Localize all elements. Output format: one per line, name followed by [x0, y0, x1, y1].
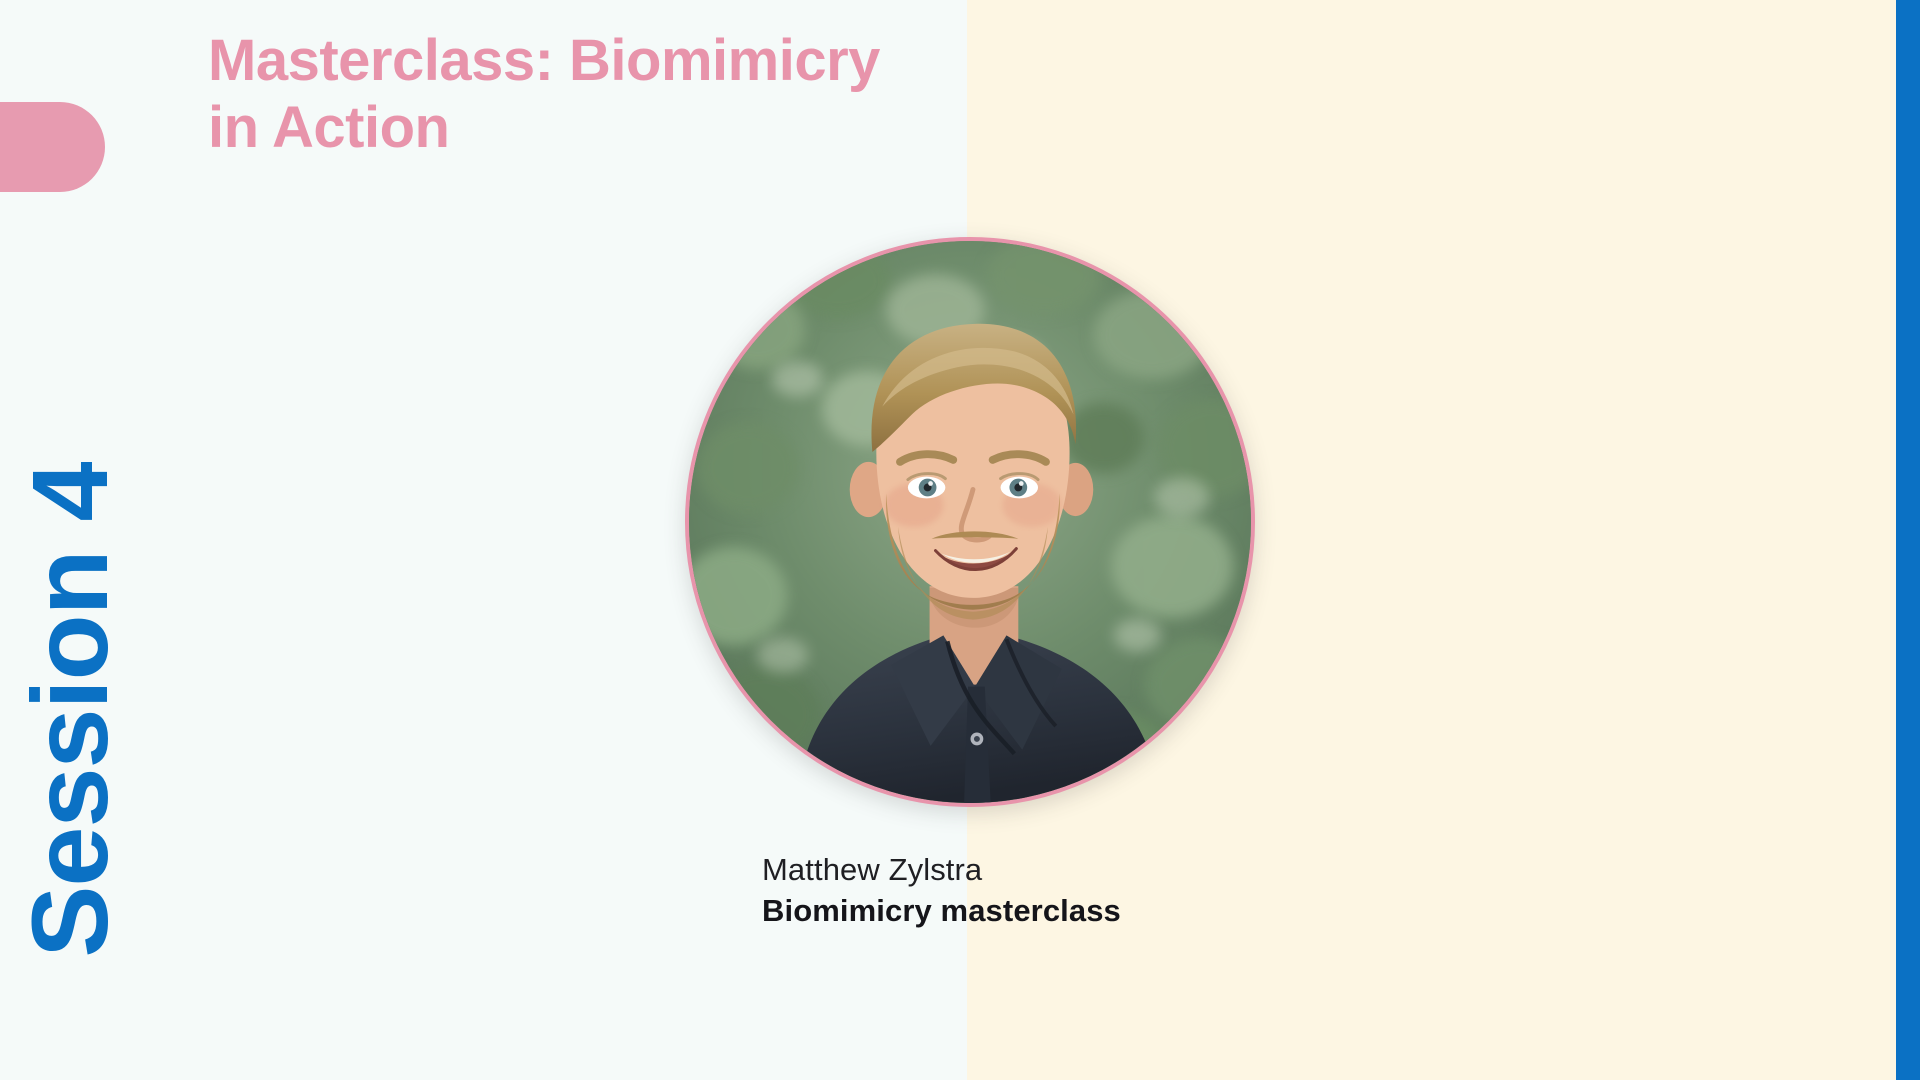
slide-title: Masterclass: Biomimicry in Action	[208, 28, 1068, 161]
speaker-role: Biomimicry masterclass	[762, 891, 1462, 932]
right-edge-accent-strip	[1896, 0, 1920, 1080]
speaker-portrait-image	[689, 241, 1251, 803]
presentation-slide: Masterclass: Biomimicry in Action Sessio…	[0, 0, 1920, 1080]
pink-pill-accent-shape	[0, 102, 105, 192]
speaker-portrait	[685, 237, 1255, 807]
speaker-caption: Matthew Zylstra Biomimicry masterclass	[762, 850, 1462, 932]
speaker-name: Matthew Zylstra	[762, 850, 1462, 891]
